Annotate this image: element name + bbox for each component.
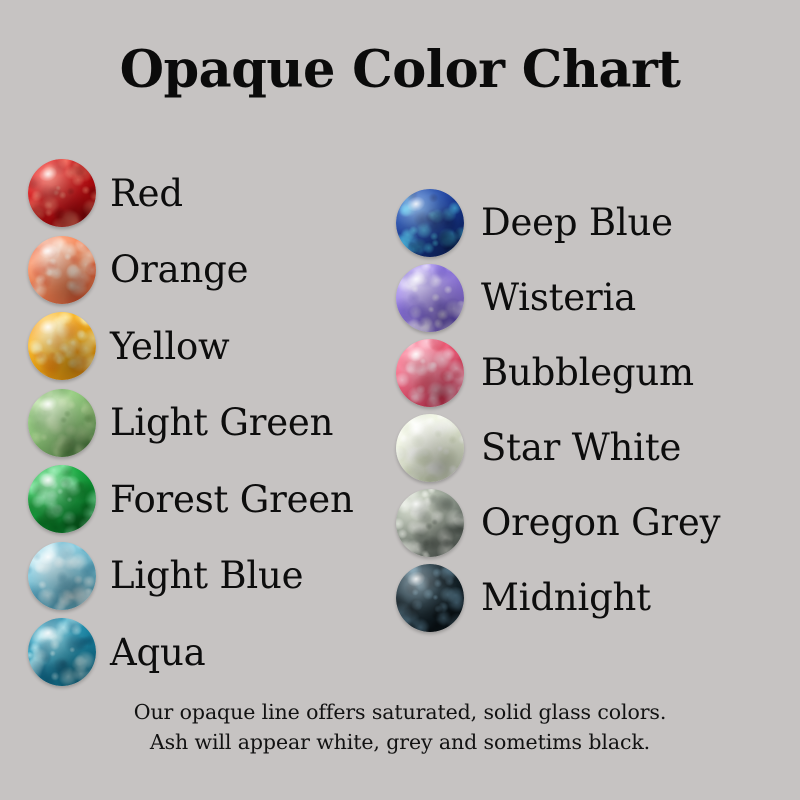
- glass-bead-icon: [396, 264, 464, 332]
- glass-bead-icon: [396, 489, 464, 557]
- swatch-row: Deep Blue: [396, 185, 720, 260]
- swatch-row: Aqua: [28, 614, 354, 691]
- swatch-row: Wisteria: [396, 260, 720, 335]
- swatch-label: Star White: [481, 429, 681, 466]
- glass-bead-icon: [396, 414, 464, 482]
- glass-bead-icon: [396, 339, 464, 407]
- footnote-line-1: Our opaque line offers saturated, solid …: [0, 698, 800, 728]
- swatch-label: Forest Green: [110, 481, 354, 518]
- glass-bead-icon: [28, 618, 96, 686]
- swatch-label: Bubblegum: [481, 354, 694, 391]
- swatch-row: Light Green: [28, 385, 354, 462]
- glass-bead-icon: [28, 542, 96, 610]
- bead-shading: [28, 159, 96, 227]
- swatch-label: Light Blue: [110, 557, 303, 594]
- footnote: Our opaque line offers saturated, solid …: [0, 698, 800, 757]
- glass-bead-icon: [396, 564, 464, 632]
- swatch-row: Red: [28, 155, 354, 232]
- swatch-column-left: RedOrangeYellowLight GreenForest GreenLi…: [28, 155, 354, 691]
- bead-shading: [396, 339, 464, 407]
- swatch-label: Wisteria: [481, 279, 636, 316]
- swatch-row: Oregon Grey: [396, 485, 720, 560]
- swatch-row: Light Blue: [28, 538, 354, 615]
- glass-bead-icon: [28, 389, 96, 457]
- swatch-label: Red: [110, 175, 183, 212]
- footnote-line-2: Ash will appear white, grey and sometims…: [0, 728, 800, 758]
- swatch-row: Yellow: [28, 308, 354, 385]
- swatch-label: Oregon Grey: [481, 504, 720, 541]
- bead-shading: [396, 189, 464, 257]
- bead-shading: [28, 236, 96, 304]
- swatch-label: Aqua: [110, 634, 206, 671]
- bead-shading: [28, 465, 96, 533]
- bead-shading: [396, 564, 464, 632]
- bead-shading: [28, 542, 96, 610]
- bead-shading: [396, 414, 464, 482]
- swatch-row: Forest Green: [28, 461, 354, 538]
- swatch-label: Yellow: [110, 328, 230, 365]
- glass-bead-icon: [28, 312, 96, 380]
- bead-shading: [396, 489, 464, 557]
- page-title: Opaque Color Chart: [0, 44, 800, 98]
- glass-bead-icon: [28, 236, 96, 304]
- bead-shading: [28, 618, 96, 686]
- swatch-row: Midnight: [396, 560, 720, 635]
- swatch-row: Orange: [28, 232, 354, 309]
- color-chart-page: Opaque Color Chart RedOrangeYellowLight …: [0, 0, 800, 800]
- bead-shading: [28, 312, 96, 380]
- glass-bead-icon: [28, 159, 96, 227]
- swatch-label: Deep Blue: [481, 204, 673, 241]
- glass-bead-icon: [396, 189, 464, 257]
- glass-bead-icon: [28, 465, 96, 533]
- bead-shading: [396, 264, 464, 332]
- bead-shading: [28, 389, 96, 457]
- swatch-label: Orange: [110, 251, 248, 288]
- swatch-label: Midnight: [481, 579, 651, 616]
- swatch-column-right: Deep BlueWisteriaBubblegumStar WhiteOreg…: [396, 185, 720, 635]
- swatch-row: Bubblegum: [396, 335, 720, 410]
- swatch-row: Star White: [396, 410, 720, 485]
- swatch-label: Light Green: [110, 404, 333, 441]
